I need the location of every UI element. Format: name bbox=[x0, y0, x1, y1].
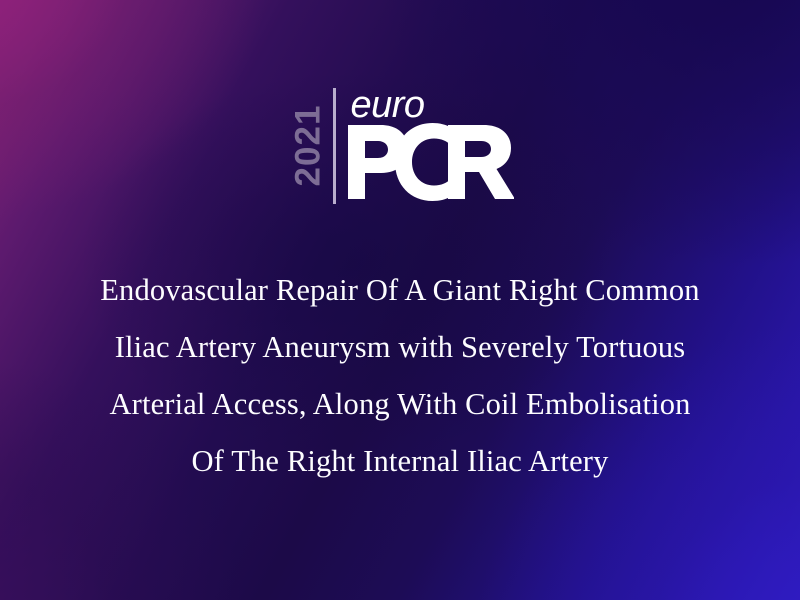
logo-year-text: 2021 bbox=[290, 104, 325, 186]
title-line-3: Arterial Access, Along With Coil Embolis… bbox=[0, 376, 800, 433]
logo-inner: 2021 euro bbox=[287, 84, 514, 206]
pcr-logotype-icon bbox=[348, 123, 514, 201]
logo-euro-text: euro bbox=[351, 86, 514, 124]
logo-wordmark-column: euro bbox=[348, 84, 514, 206]
title-line-4: Of The Right Internal Iliac Artery bbox=[0, 433, 800, 490]
logo-divider-line bbox=[333, 88, 336, 204]
logo-year-column: 2021 bbox=[287, 84, 329, 206]
title-line-2: Iliac Artery Aneurysm with Severely Tort… bbox=[0, 319, 800, 376]
presentation-slide: 2021 euro bbox=[0, 0, 800, 600]
logo-pcr-wordmark bbox=[348, 123, 514, 201]
title-line-1: Endovascular Repair Of A Giant Right Com… bbox=[0, 262, 800, 319]
europcr-logo: 2021 euro bbox=[0, 84, 800, 206]
slide-title: Endovascular Repair Of A Giant Right Com… bbox=[0, 262, 800, 490]
